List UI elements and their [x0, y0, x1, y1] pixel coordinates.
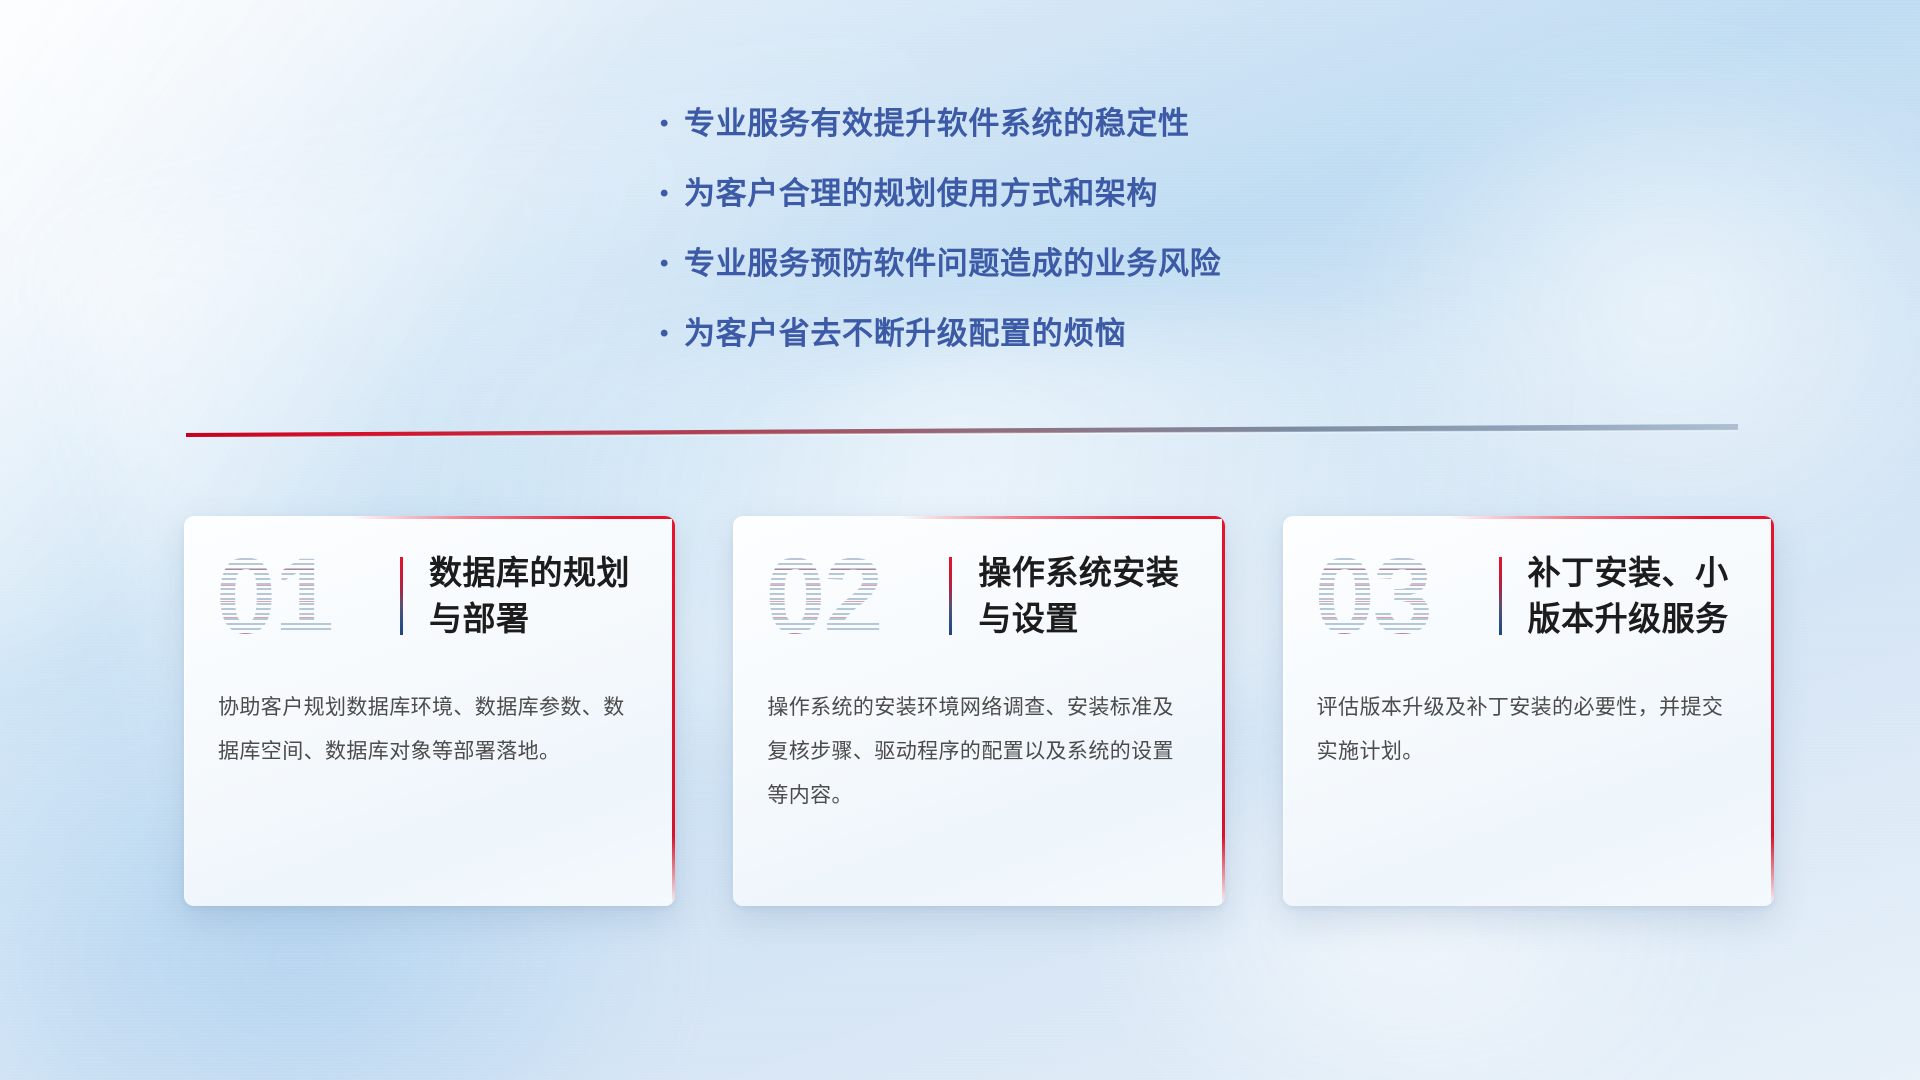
card-title-divider-bar: [1499, 557, 1502, 635]
benefit-bullet-list: • 专业服务有效提升软件系统的稳定性 • 为客户合理的规划使用方式和架构 • 专…: [660, 104, 1480, 384]
list-item: • 专业服务预防软件问题造成的业务风险: [660, 244, 1480, 284]
service-card-03[interactable]: 03 03 补丁安装、小 版本升级服务 评估版本升级及补丁安装的必要性，并提交实…: [1283, 516, 1774, 906]
card-title-divider-bar: [949, 557, 952, 635]
card-header: 03 03 补丁安装、小 版本升级服务: [1283, 516, 1774, 676]
card-number-tint-overlay: 01: [216, 542, 332, 650]
card-title-divider-bar: [400, 557, 403, 635]
card-header: 02 02 操作系统安装 与设置: [733, 516, 1224, 676]
card-title: 数据库的规划 与部署: [429, 550, 675, 642]
bullet-dot-icon: •: [660, 314, 684, 354]
list-item: • 为客户省去不断升级配置的烦恼: [660, 314, 1480, 354]
card-number-tint-overlay: 02: [765, 542, 881, 650]
bullet-text: 专业服务预防软件问题造成的业务风险: [684, 244, 1480, 284]
list-item: • 为客户合理的规划使用方式和架构: [660, 174, 1480, 214]
service-card-01[interactable]: 01 01 数据库的规划 与部署 协助客户规划数据库环境、数据库参数、数据库空间…: [184, 516, 675, 906]
card-header: 01 01 数据库的规划 与部署: [184, 516, 675, 676]
card-title: 补丁安装、小 版本升级服务: [1528, 550, 1774, 642]
service-card-02[interactable]: 02 02 操作系统安装 与设置 操作系统的安装环境网络调查、安装标准及复核步骤…: [733, 516, 1224, 906]
card-title: 操作系统安装 与设置: [978, 550, 1224, 642]
bullet-text: 为客户省去不断升级配置的烦恼: [684, 314, 1480, 354]
bullet-dot-icon: •: [660, 104, 684, 144]
slide-root: • 专业服务有效提升软件系统的稳定性 • 为客户合理的规划使用方式和架构 • 专…: [0, 0, 1920, 1080]
card-description: 协助客户规划数据库环境、数据库参数、数据库空间、数据库对象等部署落地。: [184, 676, 675, 774]
card-number-tint-overlay: 03: [1315, 542, 1431, 650]
section-divider: [186, 424, 1738, 442]
card-number-wrap: 03 03: [1309, 542, 1499, 650]
list-item: • 专业服务有效提升软件系统的稳定性: [660, 104, 1480, 144]
card-description: 评估版本升级及补丁安装的必要性，并提交实施计划。: [1283, 676, 1774, 774]
bullet-dot-icon: •: [660, 244, 684, 284]
bullet-dot-icon: •: [660, 174, 684, 214]
bullet-text: 专业服务有效提升软件系统的稳定性: [684, 104, 1480, 144]
bullet-text: 为客户合理的规划使用方式和架构: [684, 174, 1480, 214]
card-number-wrap: 01 01: [210, 542, 400, 650]
service-card-group: 01 01 数据库的规划 与部署 协助客户规划数据库环境、数据库参数、数据库空间…: [184, 516, 1774, 906]
card-description: 操作系统的安装环境网络调查、安装标准及复核步骤、驱动程序的配置以及系统的设置等内…: [733, 676, 1224, 818]
card-number-wrap: 02 02: [759, 542, 949, 650]
